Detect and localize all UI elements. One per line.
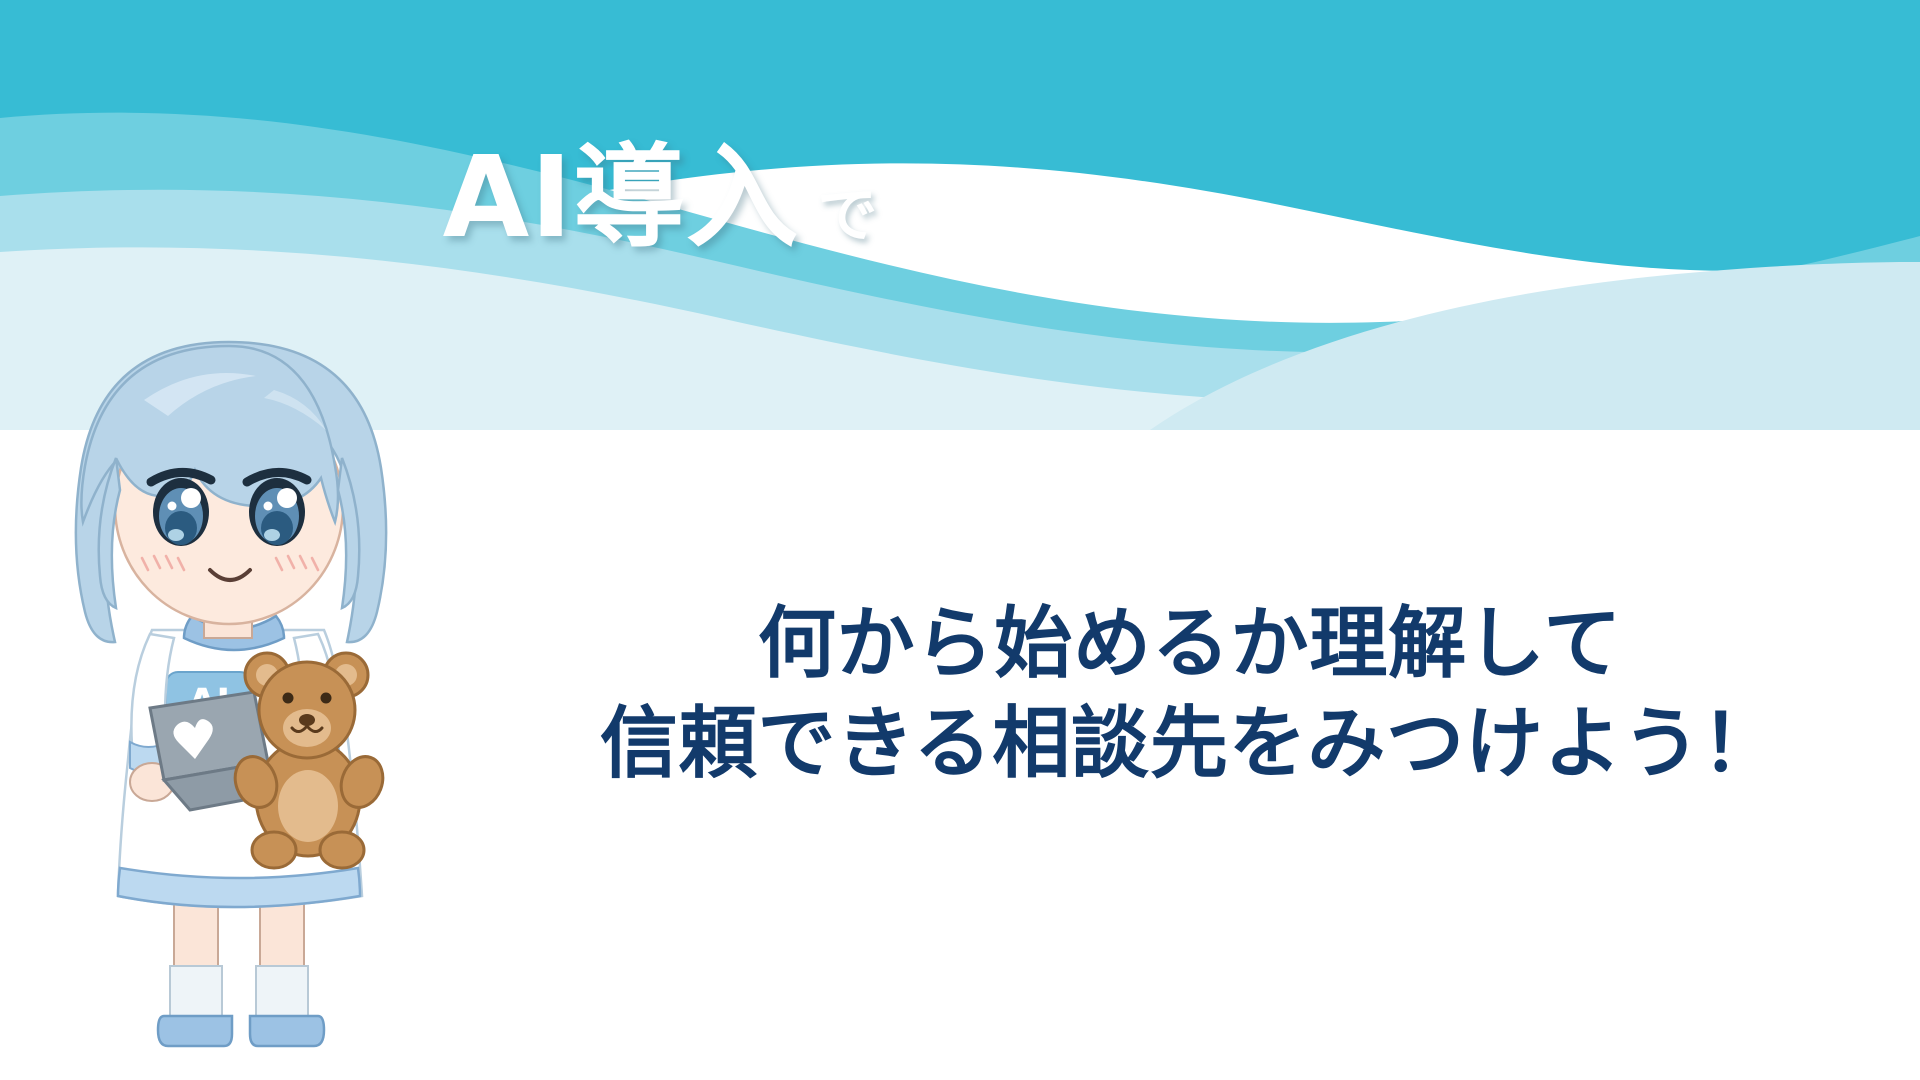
headline-line-1: 何から始めるか理解して — [520, 595, 1860, 695]
head — [76, 342, 386, 642]
shoes — [158, 1016, 324, 1046]
socks — [170, 966, 308, 1018]
character-illustration: AI — [24, 330, 474, 1080]
headline-line-2: 信頼できる相談先をみつけよう！ — [520, 695, 1860, 795]
headline-block: 何から始めるか理解して 信頼できる相談先をみつけよう！ — [520, 595, 1860, 795]
slide-canvas: AI導入で 何から始めるか理解して 信頼できる相談先をみつけよう！ — [0, 0, 1920, 1080]
